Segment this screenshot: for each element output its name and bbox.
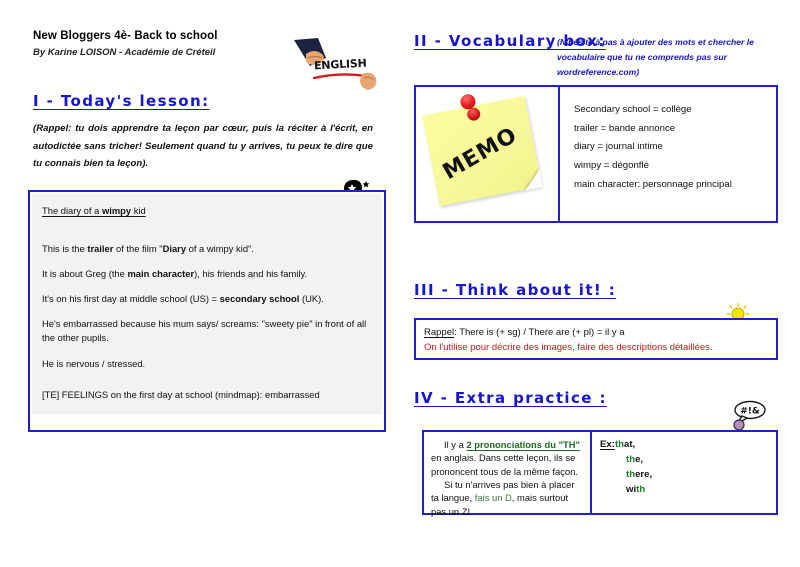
speech-bubble-icon: #!& (728, 400, 768, 434)
lesson-intro-text: (Rappel: tu dois apprendre ta leçon par … (33, 120, 373, 173)
lesson-line: He is nervous / stressed. (42, 357, 372, 371)
practice-explanation-cell: Il y a 2 prononciations du "TH" en angla… (424, 432, 592, 513)
think-rappel-text: : There is (+ sg) / There are (+ pl) = i… (454, 327, 624, 338)
lesson-text-run: He is nervous / stressed. (42, 358, 145, 369)
lesson-title-part-1: The diary of a (42, 205, 102, 216)
practice-examples-cell: Ex: that,the,there,with (592, 432, 776, 513)
practice-example-word: the, (626, 453, 768, 468)
memo-sticky-note: MEMO (422, 96, 542, 206)
practice-p1-a: Il y a (444, 439, 466, 450)
lesson-text-run: of a wimpy kid". (186, 243, 254, 254)
document-title: New Bloggers 4è- Back to school (33, 30, 218, 42)
document-author: By Karine LOISON - Académie de Créteil (33, 47, 215, 58)
lesson-content-box: The diary of a wimpy kid This is the tra… (28, 190, 386, 432)
lesson-line: This is the trailer of the film "Diary o… (42, 242, 372, 256)
lesson-text-run: This is the (42, 243, 87, 254)
practice-example-word: there, (626, 468, 768, 483)
vocabulary-note: (N'hésite à pas à ajouter des mots et ch… (557, 35, 779, 80)
lesson-keyword: secondary school (220, 293, 300, 304)
practice-word-th: th (626, 469, 635, 480)
extra-practice-table: Il y a 2 prononciations du "TH" en angla… (422, 430, 778, 515)
practice-word-rest: ere, (635, 469, 652, 480)
lesson-text-run: of the film " (113, 243, 162, 254)
vocabulary-entry: trailer = bande annonce (574, 120, 766, 139)
lesson-box-body: This is the trailer of the film "Diary o… (42, 242, 372, 382)
think-rappel-line: Rappel: There is (+ sg) / There are (+ p… (424, 326, 625, 340)
lesson-line: It's on his first day at middle school (… (42, 292, 372, 306)
vocabulary-list-cell: Secondary school = collègetrailer = band… (560, 87, 776, 221)
lesson-keyword: Diary (163, 243, 186, 254)
think-red-line: On l'utilise pour décrire des images, fa… (424, 341, 713, 355)
lesson-box-title: The diary of a wimpy kid (42, 204, 372, 218)
practice-word-rest: e, (635, 454, 643, 465)
practice-word-th: th (636, 484, 645, 495)
practice-example-word: Ex: that, (600, 438, 768, 453)
think-rappel-label: Rappel (424, 327, 454, 338)
vocabulary-list: Secondary school = collègetrailer = band… (574, 101, 766, 195)
svg-text:#!&: #!& (740, 407, 760, 417)
lesson-keyword: trailer (87, 243, 113, 254)
practice-p2-green: fais un D (475, 492, 512, 503)
lesson-text-run: It is about Greg (the (42, 268, 127, 279)
lesson-title-bold: wimpy (102, 205, 131, 216)
lesson-box-footer-line: [TE] FEELINGS on the first day at school… (42, 388, 372, 402)
vocabulary-memo-cell: MEMO (416, 87, 560, 221)
practice-paragraph-2: Si tu n'arrives pas bien à placer ta lan… (431, 478, 583, 518)
vocabulary-table: MEMO Secondary school = collègetrailer =… (414, 85, 778, 223)
section-heading-todays-lesson: I - Today's lesson: (33, 92, 209, 110)
lesson-text-run: (UK). (299, 293, 323, 304)
vocabulary-entry: main character: personnage principal (574, 176, 766, 195)
section-heading-think-about-it: III - Think about it! : (414, 281, 616, 299)
practice-example-list: Ex: that,the,there,with (626, 438, 768, 497)
vocabulary-entry: Secondary school = collège (574, 101, 766, 120)
memo-corner-fold (522, 169, 543, 190)
practice-word-th: th (615, 439, 624, 450)
lesson-title-part-2: kid (131, 205, 146, 216)
practice-p1-b: en anglais. Dans cette leçon, ils se pro… (431, 452, 578, 476)
lesson-text-run: ), his friends and his family. (194, 268, 307, 279)
practice-p1-highlight: 2 prononciations du "TH" (466, 439, 580, 450)
practice-example-word: with (626, 483, 768, 498)
lesson-text-run: It's on his first day at middle school (… (42, 293, 220, 304)
english-logo-label: ENGLISH (314, 57, 367, 73)
practice-paragraph-1: Il y a 2 prononciations du "TH" en angla… (431, 438, 583, 478)
vocabulary-entry: diary = journal intime (574, 138, 766, 157)
lesson-keyword: main character (127, 268, 194, 279)
practice-word-th: th (626, 454, 635, 465)
think-about-it-box: Rappel: There is (+ sg) / There are (+ p… (414, 318, 778, 360)
practice-word-rest: at, (624, 439, 635, 450)
practice-word-prefix: wi (626, 484, 636, 495)
lesson-line: He's embarrassed because his mum says/ s… (42, 317, 372, 345)
section-heading-extra-practice: IV - Extra practice : (414, 389, 607, 407)
lesson-text-run: He's embarrassed because his mum says/ s… (42, 318, 366, 343)
english-logo: ENGLISH (292, 36, 384, 94)
memo-label: MEMO (439, 123, 522, 185)
lesson-line: It is about Greg (the main character), h… (42, 267, 372, 281)
vocabulary-entry: wimpy = dégonflé (574, 157, 766, 176)
worksheet-page: New Bloggers 4è- Back to school By Karin… (0, 0, 800, 567)
practice-example-label: Ex: (600, 438, 615, 453)
